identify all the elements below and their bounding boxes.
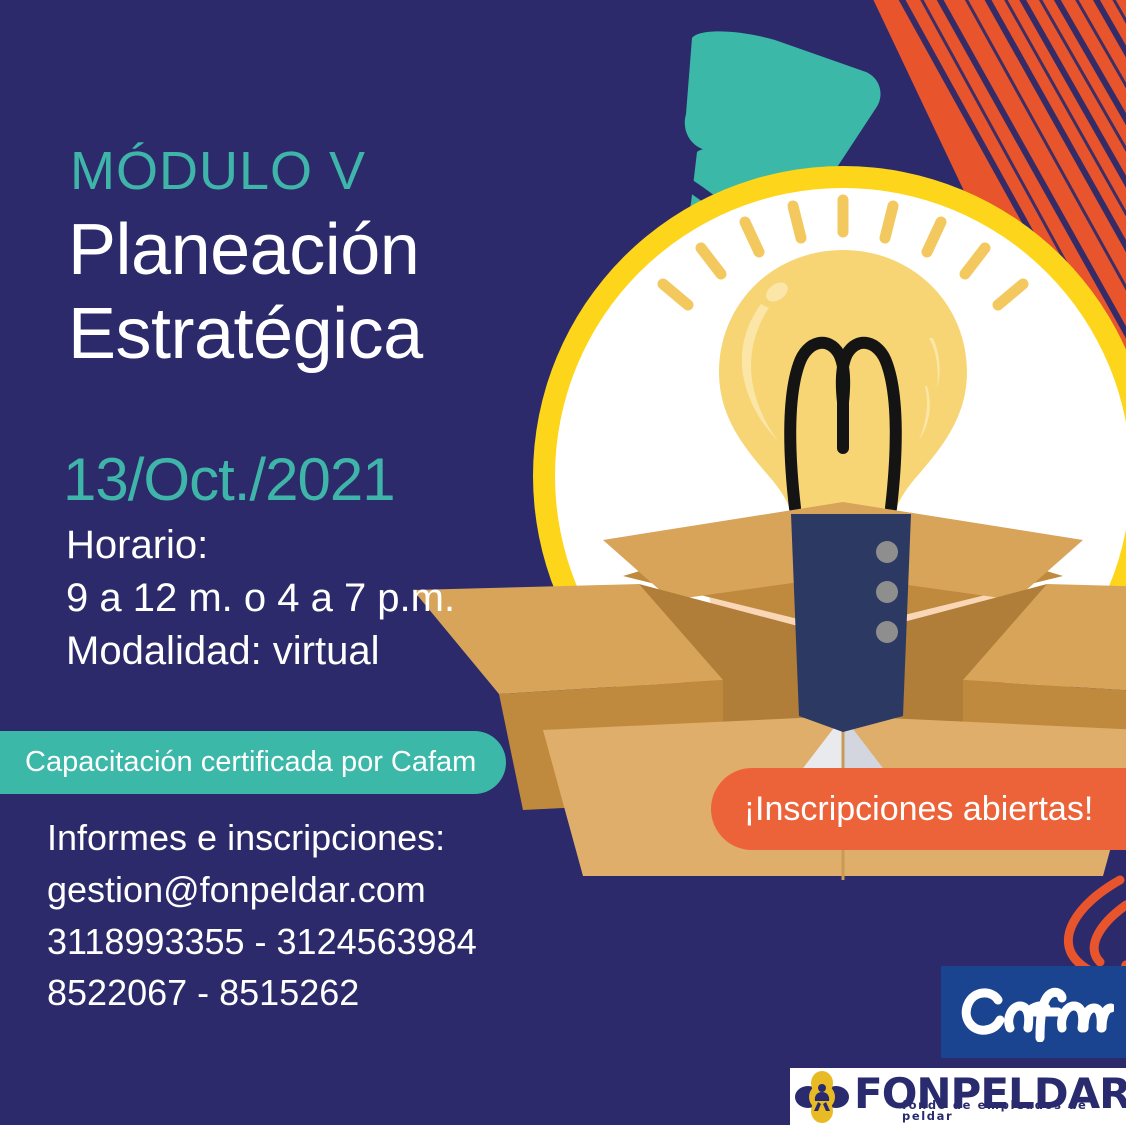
cafam-logo xyxy=(941,966,1126,1058)
schedule-label: Horario: xyxy=(66,519,455,572)
schedule-hours: 9 a 12 m. o 4 a 7 p.m. xyxy=(66,572,455,625)
module-label: MÓDULO V xyxy=(70,143,366,200)
page-title: Planeación Estratégica xyxy=(68,208,423,376)
contact-block: Informes e inscripciones: gestion@fonpel… xyxy=(47,812,477,1019)
contact-phones-mobile[interactable]: 3118993355 - 3124563984 xyxy=(47,916,477,968)
fonpeldar-tagline: fondo de empleados de peldar xyxy=(902,1100,1126,1123)
suit-sleeve xyxy=(791,514,911,732)
cta-banner-label: ¡Inscripciones abiertas! xyxy=(744,790,1094,829)
contact-email[interactable]: gestion@fonpeldar.com xyxy=(47,864,477,916)
cta-banner[interactable]: ¡Inscripciones abiertas! xyxy=(711,768,1126,850)
fonpeldar-flower-icon xyxy=(794,1071,850,1123)
fonpeldar-text-block: FONPELDAR fondo de empleados de peldar xyxy=(850,1071,1126,1123)
certification-badge-label: Capacitación certificada por Cafam xyxy=(25,746,476,779)
event-date: 13/Oct./2021 xyxy=(63,450,395,510)
illustration-circle xyxy=(533,166,1126,786)
fonpeldar-logo: FONPELDAR fondo de empleados de peldar xyxy=(790,1068,1126,1125)
contact-phones-landline[interactable]: 8522067 - 8515262 xyxy=(47,967,477,1019)
promotional-flyer: MÓDULO V Planeación Estratégica 13/Oct./… xyxy=(0,0,1126,1125)
title-line-1: Planeación xyxy=(68,208,423,292)
certification-badge: Capacitación certificada por Cafam xyxy=(0,731,506,794)
title-line-2: Estratégica xyxy=(68,292,423,376)
schedule-block: Horario: 9 a 12 m. o 4 a 7 p.m. Modalida… xyxy=(66,519,455,679)
cafam-wordmark-icon xyxy=(954,982,1114,1042)
modality: Modalidad: virtual xyxy=(66,625,455,678)
contact-heading: Informes e inscripciones: xyxy=(47,812,477,864)
